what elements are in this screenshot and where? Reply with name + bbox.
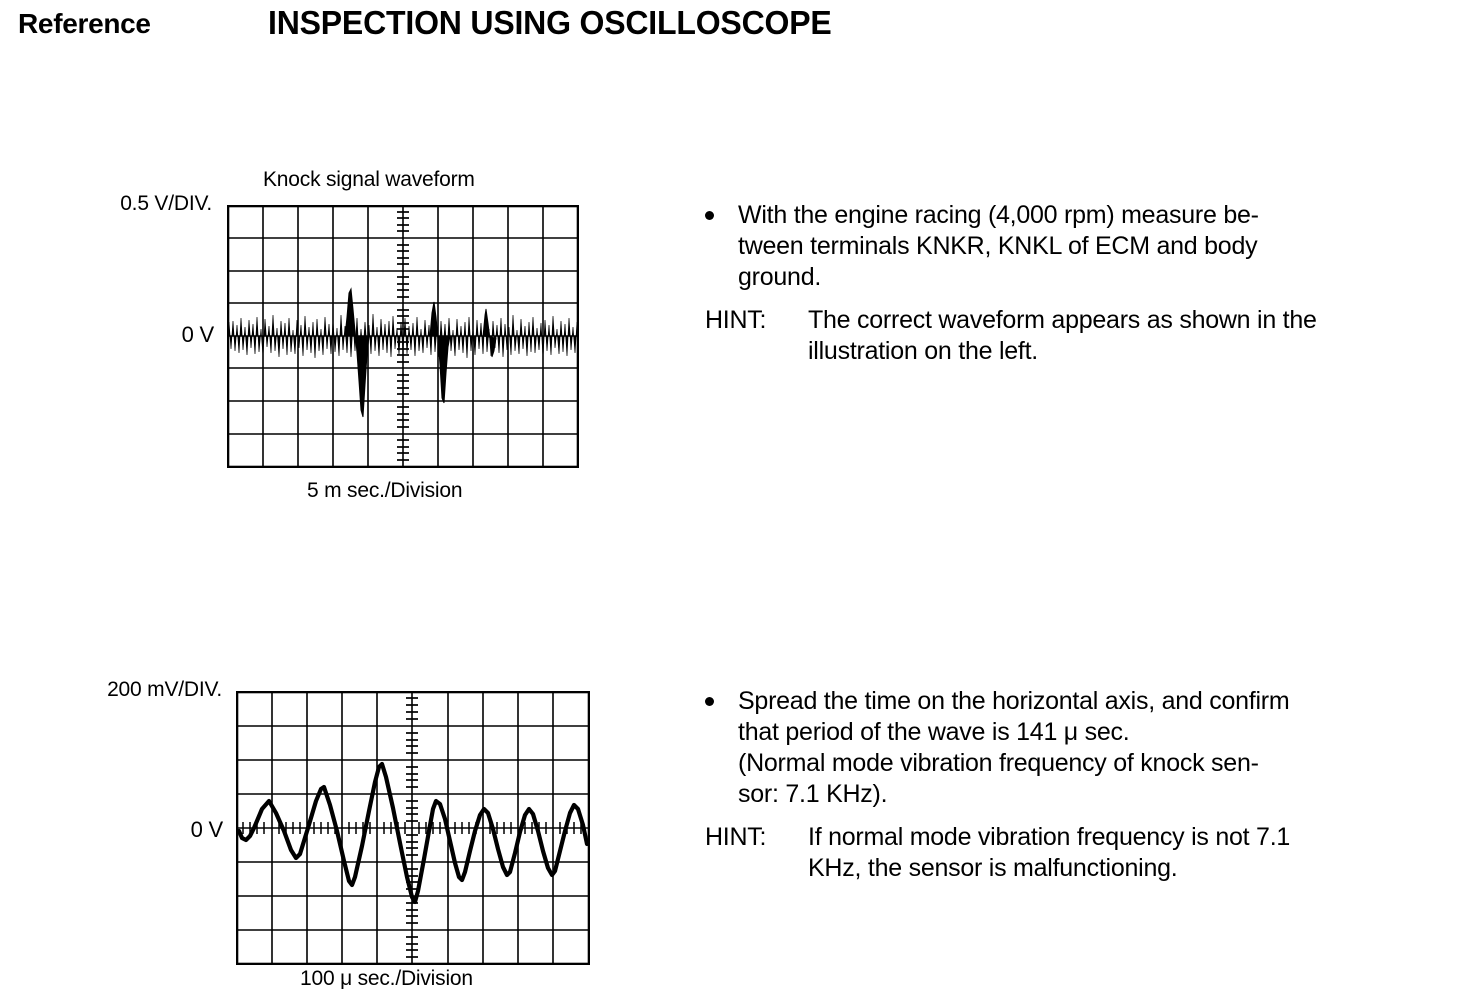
scope-1-vertical-scale-label: 0.5 V/DIV. <box>0 192 212 216</box>
note-1-bullet-line-2: tween terminals KNKR, KNKL of ECM and bo… <box>738 231 1460 262</box>
scope-2-graticule <box>236 691 590 965</box>
note-block-1: With the engine racing (4,000 rpm) measu… <box>705 200 1460 367</box>
note-2-hint-line-1: If normal mode vibration frequency is no… <box>808 822 1465 853</box>
note-2-bullet: Spread the time on the horizontal axis, … <box>705 686 1465 810</box>
note-2-hint-line-2: KHz, the sensor is malfunctioning. <box>808 853 1465 884</box>
note-2-bullet-line-2: that period of the wave is 141 μ sec. <box>738 717 1465 748</box>
note-1-hint-line-1: The correct waveform appears as shown in… <box>808 305 1460 336</box>
scope-2-vertical-scale-label: 200 mV/DIV. <box>0 678 222 702</box>
note-1-hint: HINT: The correct waveform appears as sh… <box>705 305 1460 367</box>
note-1-bullet: With the engine racing (4,000 rpm) measu… <box>705 200 1460 293</box>
bullet-dot-icon <box>705 211 714 220</box>
scope-2-horizontal-scale-label: 100 μ sec./Division <box>300 967 473 991</box>
note-1-hint-tag: HINT: <box>705 305 766 336</box>
note-2-bullet-line-1: Spread the time on the horizontal axis, … <box>738 686 1465 717</box>
note-block-2: Spread the time on the horizontal axis, … <box>705 686 1465 884</box>
note-2-hint: HINT: If normal mode vibration frequency… <box>705 822 1465 884</box>
note-1-bullet-line-1: With the engine racing (4,000 rpm) measu… <box>738 200 1460 231</box>
reference-label: Reference <box>18 8 151 40</box>
scope-1-zero-volt-label: 0 V <box>0 322 214 348</box>
note-1-bullet-line-3: ground. <box>738 262 1460 293</box>
note-2-bullet-line-4: sor: 7.1 KHz). <box>738 779 1465 810</box>
scope-1-horizontal-scale-label: 5 m sec./Division <box>307 479 462 503</box>
scope-1-graticule <box>227 205 579 468</box>
note-2-bullet-line-3: (Normal mode vibration frequency of knoc… <box>738 748 1465 779</box>
note-1-hint-line-2: illustration on the left. <box>808 336 1460 367</box>
page-title: INSPECTION USING OSCILLOSCOPE <box>268 4 832 42</box>
scope-1-title: Knock signal waveform <box>263 168 475 192</box>
bullet-dot-icon <box>705 697 714 706</box>
scope-2-zero-volt-label: 0 V <box>0 817 223 843</box>
page-header: Reference INSPECTION USING OSCILLOSCOPE <box>0 0 1472 56</box>
note-2-hint-tag: HINT: <box>705 822 766 853</box>
